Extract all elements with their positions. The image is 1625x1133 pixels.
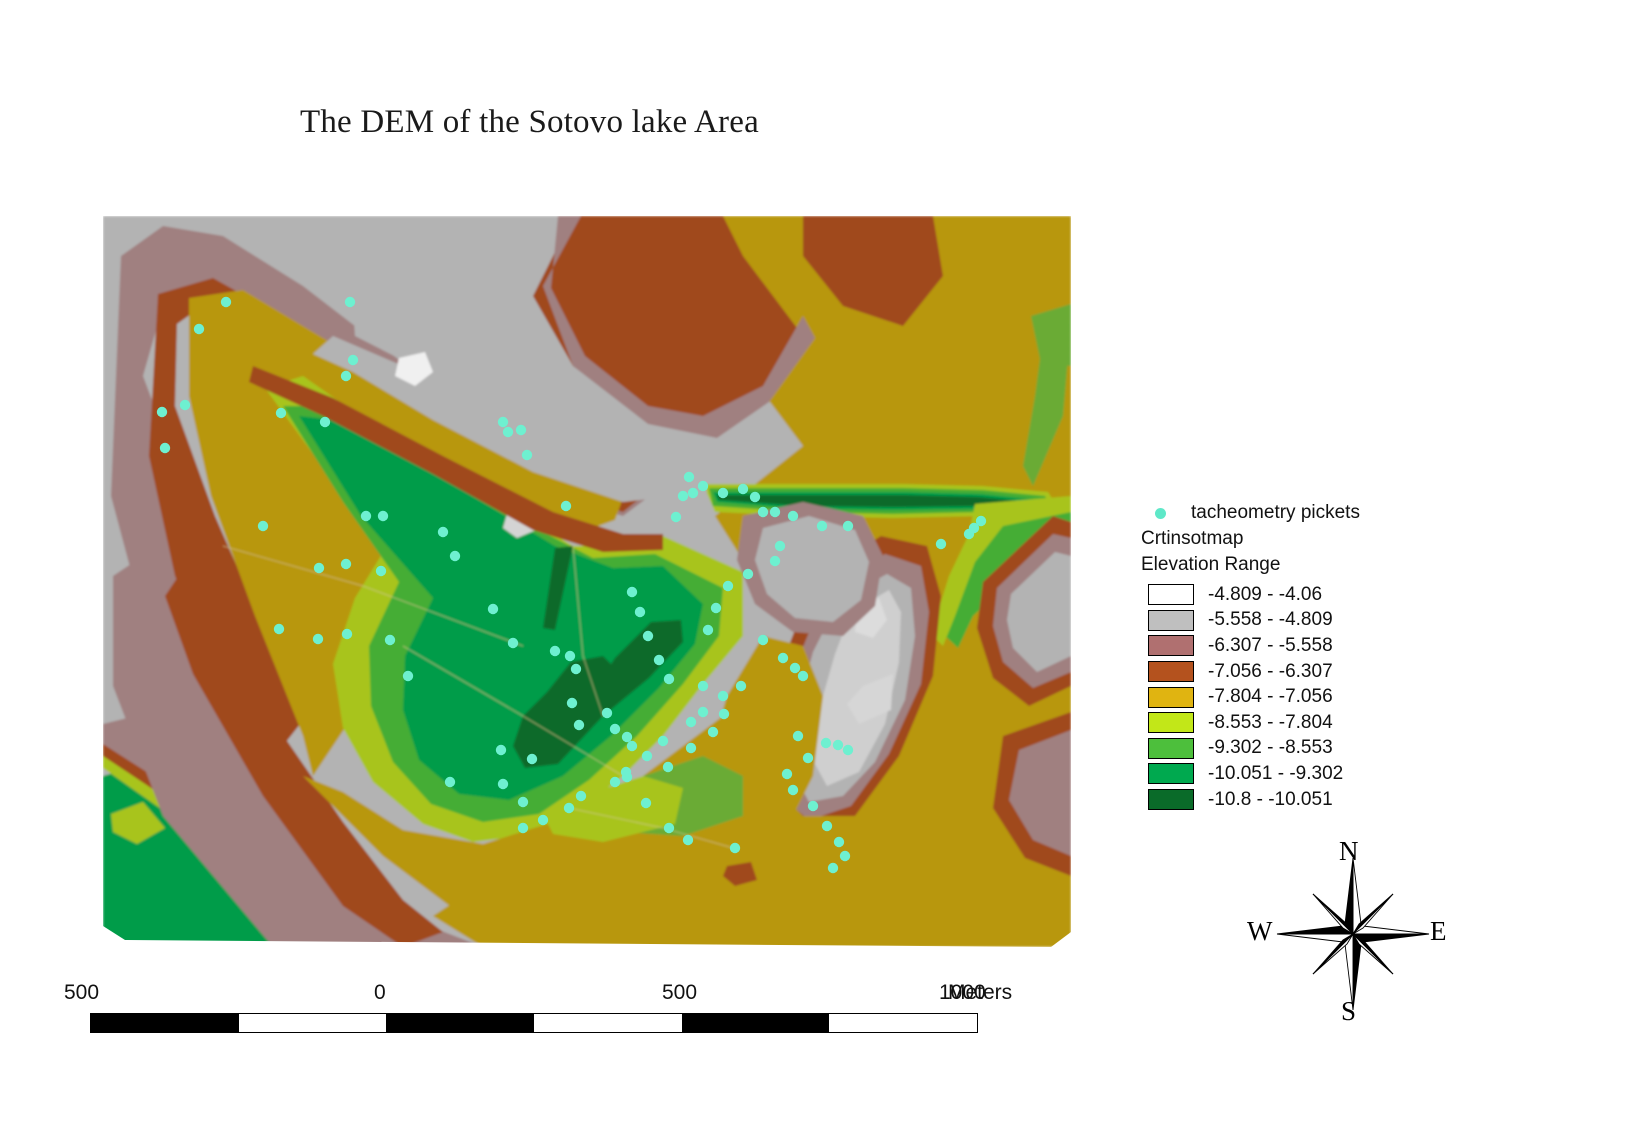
tacheometry-picket-point[interactable] <box>736 681 746 691</box>
tacheometry-picket-point[interactable] <box>313 634 323 644</box>
compass-south-label: S <box>1341 996 1356 1027</box>
tacheometry-picket-point[interactable] <box>658 736 668 746</box>
tacheometry-picket-point[interactable] <box>610 777 620 787</box>
tacheometry-picket-point[interactable] <box>828 863 838 873</box>
tacheometry-picket-point[interactable] <box>758 635 768 645</box>
tacheometry-picket-point[interactable] <box>817 521 827 531</box>
tacheometry-picket-point[interactable] <box>664 823 674 833</box>
tacheometry-picket-point[interactable] <box>678 491 688 501</box>
tacheometry-picket-point[interactable] <box>718 488 728 498</box>
scale-label-1: 0 <box>374 981 386 1005</box>
tacheometry-picket-point[interactable] <box>610 724 620 734</box>
legend-point-label: tacheometry pickets <box>1191 502 1360 524</box>
tacheometry-picket-point[interactable] <box>711 603 721 613</box>
tacheometry-picket-point[interactable] <box>654 655 664 665</box>
tacheometry-picket-point[interactable] <box>840 851 850 861</box>
tacheometry-picket-point[interactable] <box>276 408 286 418</box>
tacheometry-picket-point[interactable] <box>936 539 946 549</box>
legend-color-swatch <box>1148 763 1194 784</box>
cyan-dot-icon <box>1155 508 1166 519</box>
tacheometry-picket-point[interactable] <box>788 785 798 795</box>
tacheometry-picket-point[interactable] <box>320 417 330 427</box>
tacheometry-picket-point[interactable] <box>622 732 632 742</box>
scale-bar-segment <box>682 1014 830 1032</box>
tacheometry-picket-point[interactable] <box>964 529 974 539</box>
tacheometry-picket-point[interactable] <box>822 821 832 831</box>
tacheometry-picket-point[interactable] <box>361 511 371 521</box>
tacheometry-picket-point[interactable] <box>627 741 637 751</box>
tacheometry-picket-point[interactable] <box>686 743 696 753</box>
tacheometry-picket-point[interactable] <box>750 492 760 502</box>
tacheometry-picket-point[interactable] <box>550 646 560 656</box>
tacheometry-picket-point[interactable] <box>719 709 729 719</box>
legend-color-swatch <box>1148 635 1194 656</box>
legend-color-swatch <box>1148 789 1194 810</box>
legend-class-list: -4.809 - -4.06-5.558 - -4.809-6.307 - -5… <box>1141 582 1441 812</box>
tacheometry-picket-point[interactable] <box>564 803 574 813</box>
tacheometry-picket-point[interactable] <box>688 488 698 498</box>
tacheometry-picket-point[interactable] <box>221 297 231 307</box>
legend-class-row: -4.809 - -4.06 <box>1141 582 1441 608</box>
tacheometry-picket-point[interactable] <box>522 450 532 460</box>
tacheometry-picket-point[interactable] <box>516 425 526 435</box>
tacheometry-picket-point[interactable] <box>503 427 513 437</box>
legend-class-row: -10.051 - -9.302 <box>1141 761 1441 787</box>
tacheometry-picket-point[interactable] <box>671 512 681 522</box>
tacheometry-picket-point[interactable] <box>782 769 792 779</box>
tacheometry-picket-point[interactable] <box>635 607 645 617</box>
tacheometry-picket-point[interactable] <box>641 798 651 808</box>
legend-color-swatch <box>1148 687 1194 708</box>
tacheometry-picket-point[interactable] <box>438 527 448 537</box>
tacheometry-picket-point[interactable] <box>788 511 798 521</box>
legend-class-row: -10.8 - -10.051 <box>1141 787 1441 813</box>
tacheometry-picket-point[interactable] <box>576 791 586 801</box>
scale-label-0: 500 <box>64 981 99 1005</box>
map-legend: tacheometry pickets Crtinsotmap Elevatio… <box>1141 500 1441 812</box>
tacheometry-picket-point[interactable] <box>790 663 800 673</box>
tacheometry-picket-point[interactable] <box>538 815 548 825</box>
tacheometry-picket-point[interactable] <box>698 707 708 717</box>
scale-bar-segment <box>91 1014 239 1032</box>
legend-class-row: -7.804 - -7.056 <box>1141 684 1441 710</box>
tacheometry-picket-point[interactable] <box>718 691 728 701</box>
map-svg[interactable] <box>103 216 1071 947</box>
tacheometry-picket-point[interactable] <box>194 324 204 334</box>
legend-color-swatch <box>1148 661 1194 682</box>
legend-class-label: -7.804 - -7.056 <box>1208 686 1333 708</box>
map-raster-layer <box>103 216 1071 947</box>
scale-bar: 500 0 500 1000 Meters <box>64 975 984 1037</box>
tacheometry-picket-point[interactable] <box>808 801 818 811</box>
tacheometry-picket-point[interactable] <box>798 671 808 681</box>
tacheometry-picket-point[interactable] <box>376 566 386 576</box>
legend-color-swatch <box>1148 712 1194 733</box>
scale-units-label: Meters <box>948 981 1012 1005</box>
tacheometry-picket-point[interactable] <box>348 355 358 365</box>
tacheometry-picket-point[interactable] <box>488 604 498 614</box>
tacheometry-picket-point[interactable] <box>770 507 780 517</box>
compass-rose: N S W E <box>1243 838 1467 1034</box>
legend-color-swatch <box>1148 610 1194 631</box>
scale-label-2: 500 <box>662 981 697 1005</box>
legend-color-swatch <box>1148 738 1194 759</box>
compass-west-label: W <box>1247 916 1272 947</box>
tacheometry-picket-point[interactable] <box>621 767 631 777</box>
legend-class-label: -7.056 - -6.307 <box>1208 661 1333 683</box>
tacheometry-picket-point[interactable] <box>723 581 733 591</box>
tacheometry-picket-point[interactable] <box>378 511 388 521</box>
tacheometry-picket-point[interactable] <box>775 541 785 551</box>
compass-north-label: N <box>1339 836 1359 867</box>
tacheometry-picket-point[interactable] <box>770 556 780 566</box>
legend-point-row: tacheometry pickets <box>1141 500 1441 526</box>
tacheometry-picket-point[interactable] <box>496 745 506 755</box>
tacheometry-picket-point[interactable] <box>663 762 673 772</box>
tacheometry-picket-point[interactable] <box>602 708 612 718</box>
tacheometry-picket-point[interactable] <box>518 823 528 833</box>
tacheometry-picket-point[interactable] <box>708 727 718 737</box>
scale-bar-segment <box>239 1014 387 1032</box>
page-title: The DEM of the Sotovo lake Area <box>300 104 759 141</box>
tacheometry-picket-point[interactable] <box>703 625 713 635</box>
tacheometry-picket-point[interactable] <box>686 717 696 727</box>
tacheometry-picket-point[interactable] <box>180 400 190 410</box>
compass-east-label: E <box>1430 916 1447 947</box>
scale-bar-segment <box>534 1014 682 1032</box>
tacheometry-picket-point[interactable] <box>738 484 748 494</box>
legend-class-label: -10.8 - -10.051 <box>1208 789 1333 811</box>
tacheometry-picket-point[interactable] <box>683 835 693 845</box>
legend-class-row: -6.307 - -5.558 <box>1141 633 1441 659</box>
tacheometry-picket-point[interactable] <box>561 501 571 511</box>
tacheometry-picket-point[interactable] <box>976 516 986 526</box>
legend-class-label: -6.307 - -5.558 <box>1208 635 1333 657</box>
tacheometry-picket-point[interactable] <box>157 407 167 417</box>
scale-bar-graphic <box>90 1013 978 1033</box>
legend-class-label: -9.302 - -8.553 <box>1208 737 1333 759</box>
tacheometry-picket-point[interactable] <box>274 624 284 634</box>
legend-layer-name: Crtinsotmap <box>1141 528 1441 550</box>
tacheometry-picket-point[interactable] <box>834 837 844 847</box>
legend-class-row: -7.056 - -6.307 <box>1141 659 1441 685</box>
tacheometry-picket-point[interactable] <box>342 629 352 639</box>
tacheometry-picket-point[interactable] <box>498 779 508 789</box>
legend-field-name: Elevation Range <box>1141 554 1441 576</box>
tacheometry-picket-point[interactable] <box>730 843 740 853</box>
scale-bar-segment <box>829 1014 977 1032</box>
legend-class-label: -4.809 - -4.06 <box>1208 584 1322 606</box>
tacheometry-picket-point[interactable] <box>643 631 653 641</box>
tacheometry-picket-point[interactable] <box>574 720 584 730</box>
tacheometry-picket-point[interactable] <box>498 417 508 427</box>
tacheometry-picket-point[interactable] <box>258 521 268 531</box>
tacheometry-picket-point[interactable] <box>698 481 708 491</box>
tacheometry-picket-point[interactable] <box>821 738 831 748</box>
tacheometry-picket-point[interactable] <box>793 731 803 741</box>
tacheometry-picket-point[interactable] <box>341 559 351 569</box>
tacheometry-picket-point[interactable] <box>843 745 853 755</box>
tacheometry-picket-point[interactable] <box>385 635 395 645</box>
legend-class-row: -8.553 - -7.804 <box>1141 710 1441 736</box>
tacheometry-picket-point[interactable] <box>450 551 460 561</box>
tacheometry-picket-point[interactable] <box>403 671 413 681</box>
tacheometry-picket-point[interactable] <box>803 753 813 763</box>
tacheometry-picket-point[interactable] <box>627 587 637 597</box>
legend-class-label: -10.051 - -9.302 <box>1208 763 1343 785</box>
tacheometry-picket-point[interactable] <box>684 472 694 482</box>
legend-color-swatch <box>1148 584 1194 605</box>
map-page: The DEM of the Sotovo lake Area <box>0 0 1625 1133</box>
legend-class-label: -8.553 - -7.804 <box>1208 712 1333 734</box>
tacheometry-picket-point[interactable] <box>341 371 351 381</box>
tacheometry-picket-point[interactable] <box>571 664 581 674</box>
scale-bar-segment <box>386 1014 534 1032</box>
tacheometry-picket-point[interactable] <box>527 754 537 764</box>
tacheometry-picket-point[interactable] <box>664 674 674 684</box>
tacheometry-picket-point[interactable] <box>567 698 577 708</box>
tacheometry-picket-point[interactable] <box>445 777 455 787</box>
tacheometry-picket-point[interactable] <box>758 507 768 517</box>
tacheometry-picket-point[interactable] <box>518 797 528 807</box>
tacheometry-picket-point[interactable] <box>843 521 853 531</box>
tacheometry-picket-point[interactable] <box>698 681 708 691</box>
tacheometry-picket-point[interactable] <box>314 563 324 573</box>
map-canvas[interactable] <box>103 216 1071 947</box>
tacheometry-picket-point[interactable] <box>642 751 652 761</box>
tacheometry-picket-point[interactable] <box>743 569 753 579</box>
tacheometry-picket-point[interactable] <box>833 740 843 750</box>
legend-class-row: -9.302 - -8.553 <box>1141 736 1441 762</box>
legend-class-label: -5.558 - -4.809 <box>1208 609 1333 631</box>
tacheometry-picket-point[interactable] <box>778 653 788 663</box>
tacheometry-picket-point[interactable] <box>345 297 355 307</box>
tacheometry-picket-point[interactable] <box>565 651 575 661</box>
legend-class-row: -5.558 - -4.809 <box>1141 608 1441 634</box>
tacheometry-picket-point[interactable] <box>160 443 170 453</box>
tacheometry-picket-point[interactable] <box>508 638 518 648</box>
